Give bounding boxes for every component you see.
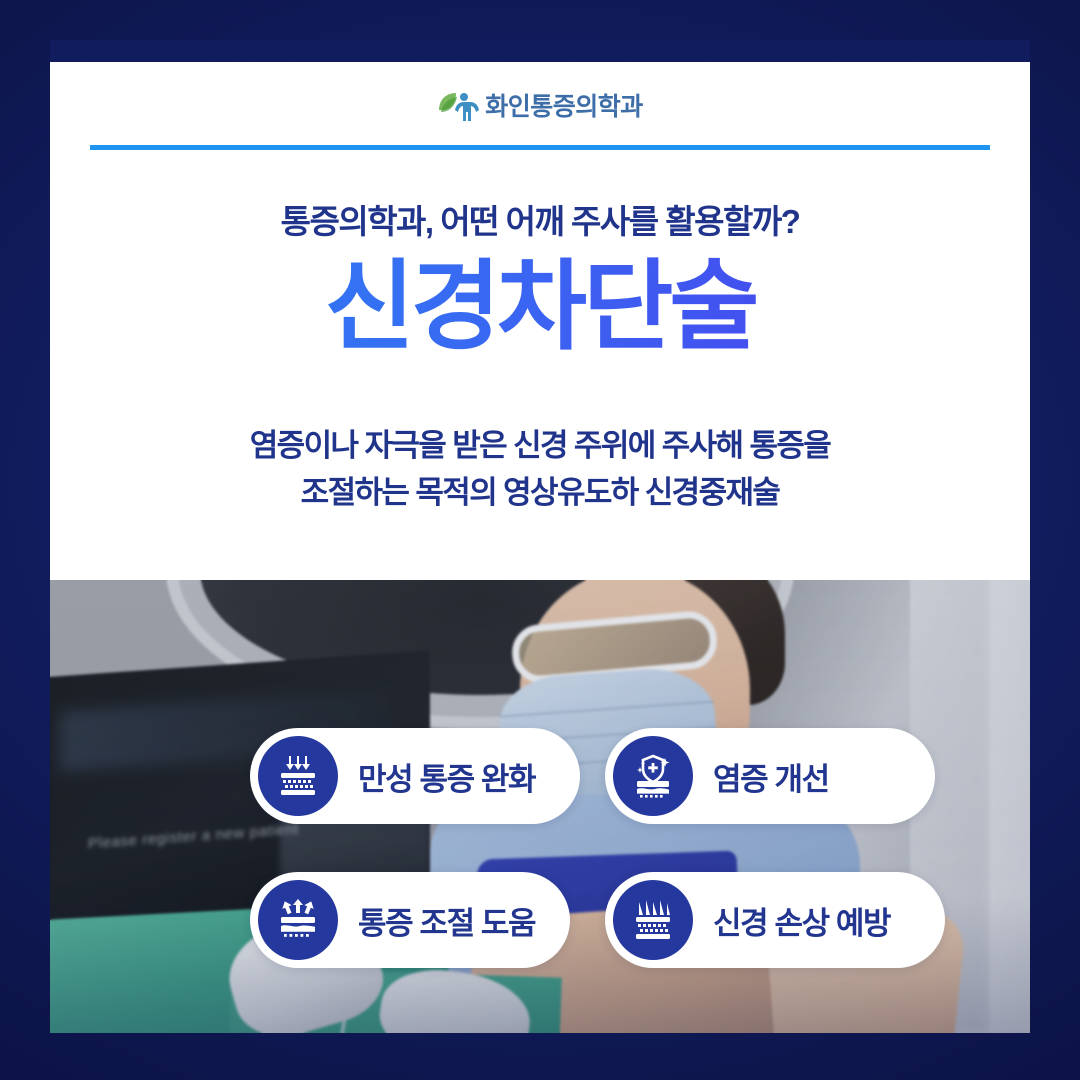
brand-logo[interactable]: 화인통증의학과 bbox=[50, 90, 1030, 124]
brand-name: 화인통증의학과 bbox=[485, 95, 643, 120]
shield-plus-sparkle-icon bbox=[613, 736, 693, 816]
description-line-1: 염증이나 자극을 받은 신경 주위에 주사해 통증을 bbox=[50, 422, 1030, 469]
benefit-pill-nerve-damage-prevention[interactable]: 신경 손상 예방 bbox=[605, 872, 945, 968]
page-title: 신경차단술 bbox=[50, 255, 1030, 358]
needles-skin-layers-icon bbox=[613, 880, 693, 960]
header-section: 화인통증의학과 통증의학과, 어떤 어깨 주사를 활용할까? 신경차단술 염증이… bbox=[50, 40, 1030, 580]
zigzag-top-edge bbox=[50, 40, 1030, 62]
benefit-pill-pain-control-support[interactable]: 통증 조절 도움 bbox=[250, 872, 570, 968]
arrows-up-skin-layers-icon bbox=[258, 880, 338, 960]
leaf-person-icon bbox=[437, 90, 479, 124]
benefit-label: 통증 조절 도움 bbox=[358, 898, 535, 943]
benefit-pill-chronic-pain-relief[interactable]: 만성 통증 완화 bbox=[250, 728, 580, 824]
poster-card: 화인통증의학과 통증의학과, 어떤 어깨 주사를 활용할까? 신경차단술 염증이… bbox=[50, 40, 1030, 1033]
header-divider bbox=[90, 145, 990, 150]
description-line-2: 조절하는 목적의 영상유도하 신경중재술 bbox=[50, 469, 1030, 516]
benefit-label: 만성 통증 완화 bbox=[358, 754, 535, 799]
benefit-label: 신경 손상 예방 bbox=[713, 898, 890, 943]
eyebrow-question: 통증의학과, 어떤 어깨 주사를 활용할까? bbox=[50, 195, 1030, 243]
description-block: 염증이나 자극을 받은 신경 주위에 주사해 통증을 조절하는 목적의 영상유도… bbox=[50, 422, 1030, 516]
benefit-pill-inflammation-improvement[interactable]: 염증 개선 bbox=[605, 728, 935, 824]
benefit-label: 염증 개선 bbox=[713, 754, 829, 799]
arrows-down-skin-layers-icon bbox=[258, 736, 338, 816]
